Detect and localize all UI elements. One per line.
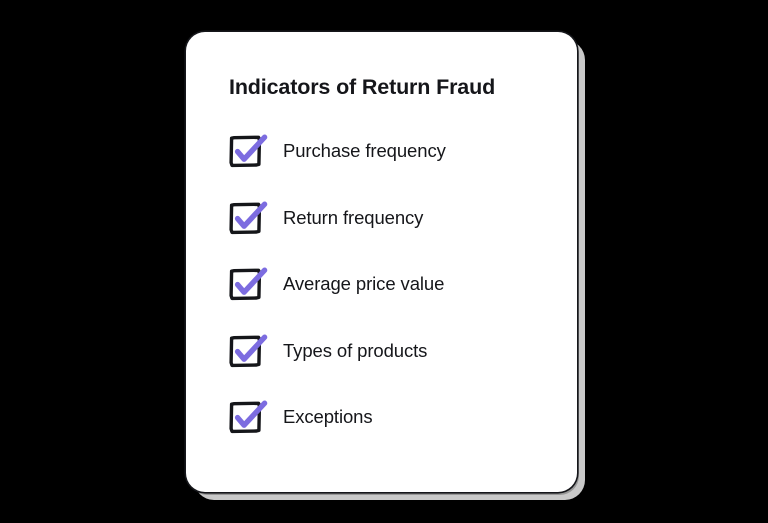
- list-item[interactable]: Exceptions: [229, 399, 549, 466]
- list-item[interactable]: Types of products: [229, 333, 549, 400]
- checkbox-checked-icon[interactable]: [229, 134, 269, 172]
- indicators-card: Indicators of Return Fraud Purchase freq…: [186, 32, 577, 492]
- list-item[interactable]: Purchase frequency: [229, 133, 549, 200]
- list-item-label: Types of products: [283, 342, 427, 361]
- checkbox-checked-icon[interactable]: [229, 334, 269, 372]
- list-item[interactable]: Average price value: [229, 266, 549, 333]
- checkbox-checked-icon[interactable]: [229, 201, 269, 239]
- checklist: Purchase frequencyReturn frequencyAverag…: [229, 133, 549, 466]
- list-item-label: Average price value: [283, 275, 444, 294]
- list-item-label: Exceptions: [283, 408, 373, 427]
- checkbox-checked-icon[interactable]: [229, 267, 269, 305]
- list-item-label: Return frequency: [283, 209, 423, 228]
- checkbox-checked-icon[interactable]: [229, 400, 269, 438]
- list-item[interactable]: Return frequency: [229, 200, 549, 267]
- page-title: Indicators of Return Fraud: [229, 75, 495, 100]
- list-item-label: Purchase frequency: [283, 142, 446, 161]
